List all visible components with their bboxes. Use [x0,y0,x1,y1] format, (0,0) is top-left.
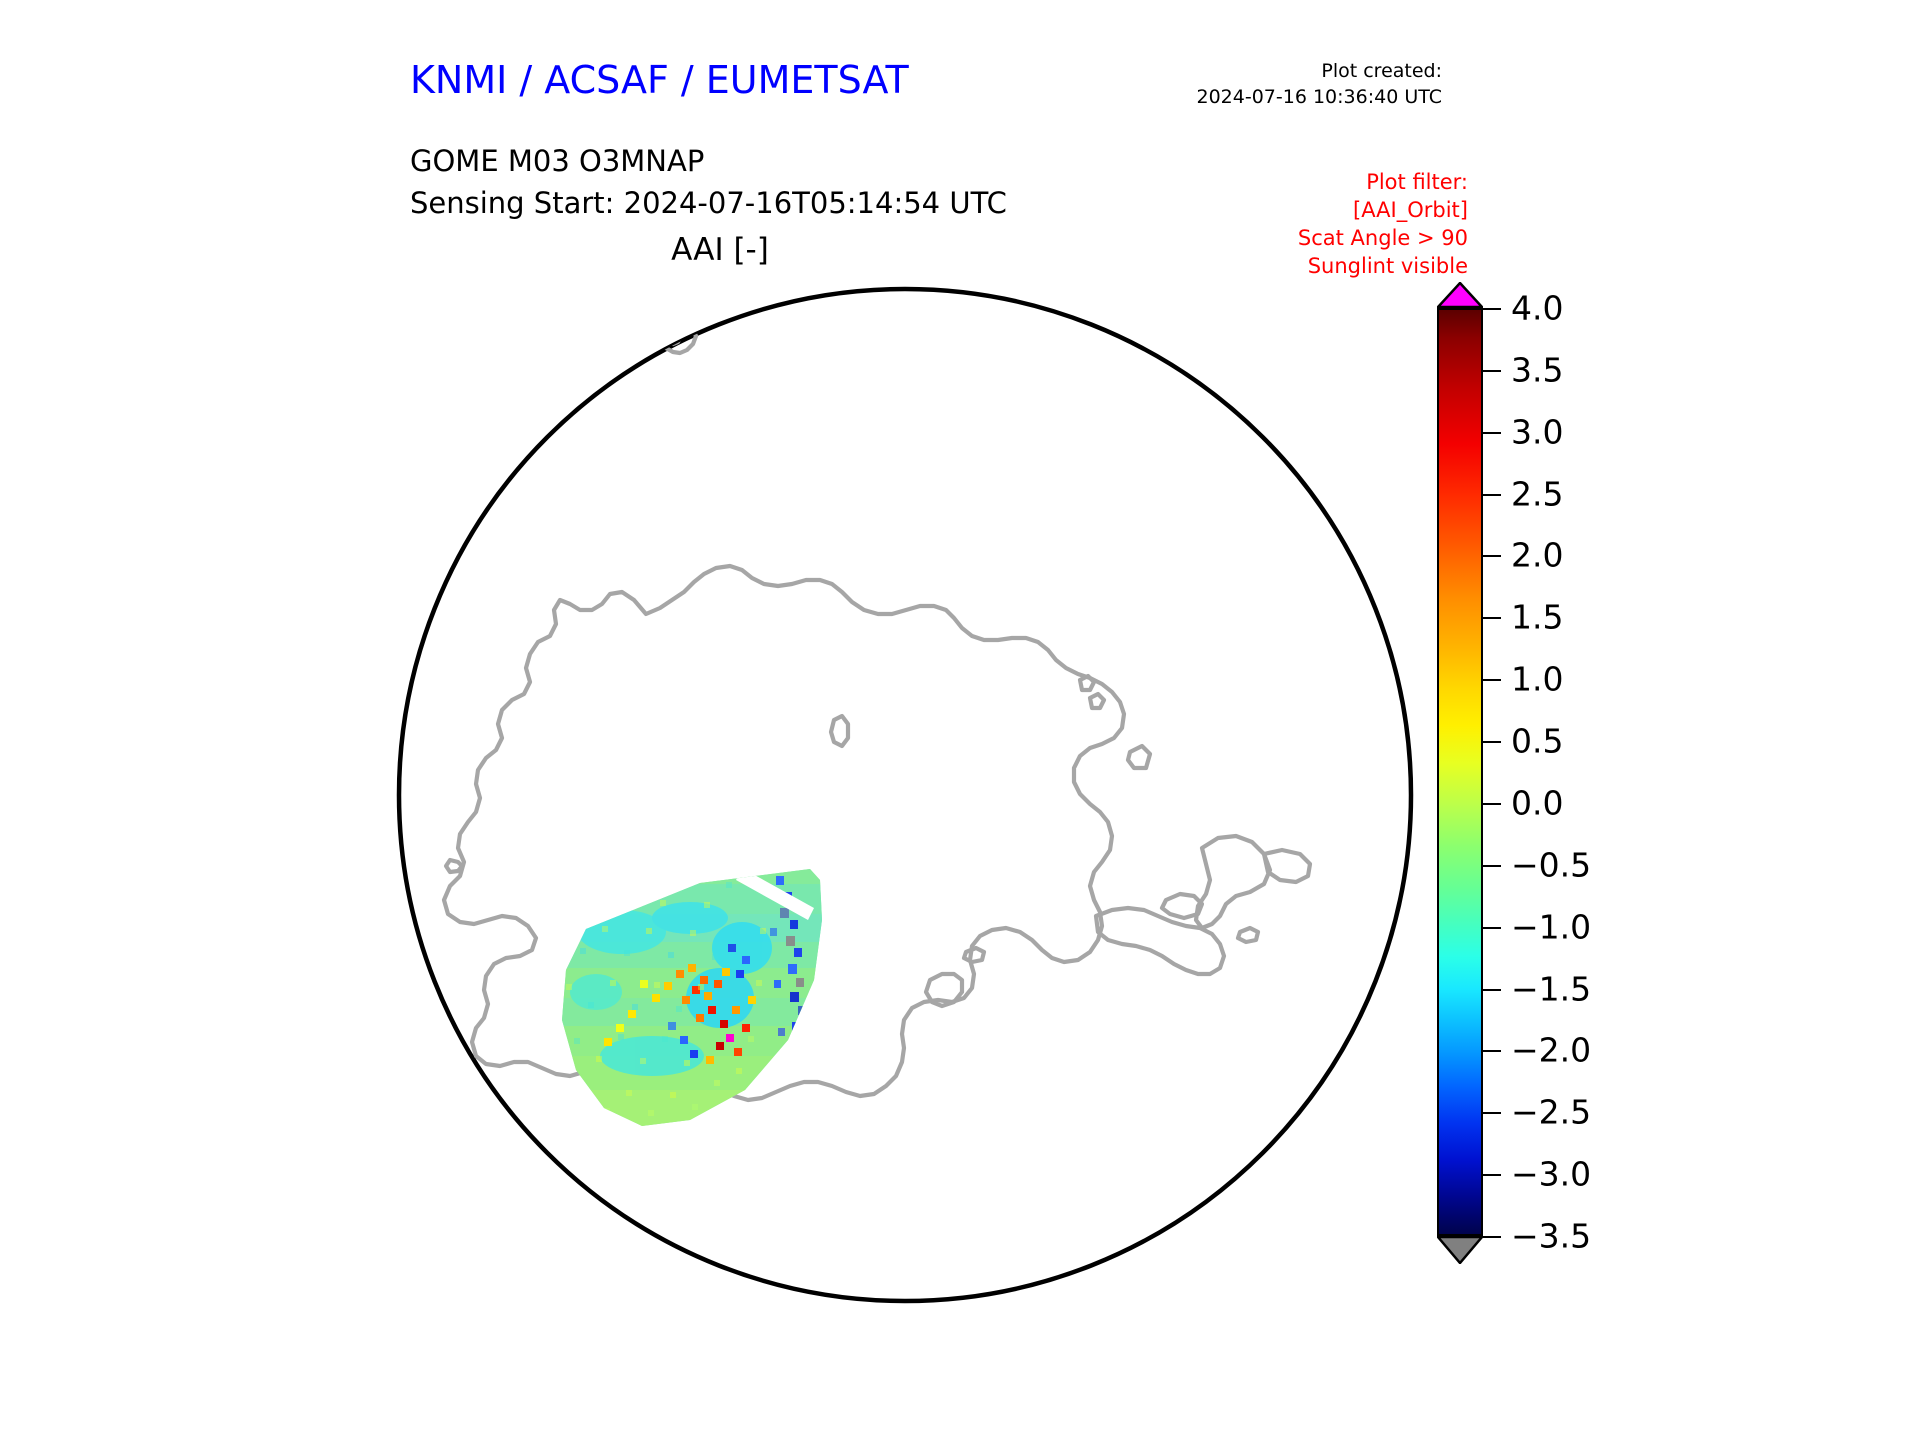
colorbar-tick-mark [1483,741,1501,743]
colorbar-tick-mark [1483,679,1501,681]
colorbar-tick-mark [1483,1112,1501,1114]
colorbar-tick-label: −2.5 [1511,1093,1591,1132]
colorbar-tick-mark [1483,927,1501,929]
colorbar-tick-mark [1483,308,1501,310]
plot-created-value: 2024-07-16 10:36:40 UTC [1197,84,1443,110]
coastline-tasmania [510,376,538,403]
plot-created-block: Plot created: 2024-07-16 10:36:40 UTC [1197,58,1443,110]
colorbar-over-arrow [1437,282,1483,308]
plot-filter-line-2: Sunglint visible [1298,252,1468,280]
colorbar-tick-mark [1483,1236,1501,1238]
coastline-small-island-left [416,370,436,386]
colorbar-tick-label: −2.0 [1511,1031,1591,1070]
colorbar-tick-label: 1.0 [1511,660,1563,699]
colorbar-tick-mark [1483,989,1501,991]
product-info-block: GOME M03 O3MNAP Sensing Start: 2024-07-1… [410,140,1007,224]
page-title: AAI [-] [0,232,1440,268]
plot-canvas: KNMI / ACSAF / EUMETSAT Plot created: 20… [0,0,1920,1440]
colorbar-tick-mark [1483,1050,1501,1052]
map-area [390,280,1420,1310]
colorbar-tick-label: 3.5 [1511,350,1563,389]
colorbar-tick-label: −3.0 [1511,1155,1591,1194]
colorbar-tick-label: 2.5 [1511,474,1563,513]
colorbar-tick-mark [1483,555,1501,557]
plot-filter-label: Plot filter: [1298,168,1468,196]
plot-filter-block: Plot filter: [AAI_Orbit] Scat Angle > 90… [1298,168,1468,280]
colorbar-tick-mark [1483,370,1501,372]
organisation-title: KNMI / ACSAF / EUMETSAT [410,58,909,102]
colorbar-under-arrow [1437,1236,1483,1264]
colorbar-tick-label: 0.0 [1511,783,1563,822]
coastline-new-zealand-north [676,280,702,305]
colorbar: 4.03.53.02.52.01.51.00.50.0−0.5−1.0−1.5−… [1437,282,1797,1302]
colorbar-tick-label: 0.5 [1511,722,1563,761]
product-name: GOME M03 O3MNAP [410,140,1007,182]
sensing-start: Sensing Start: 2024-07-16T05:14:54 UTC [410,182,1007,224]
plot-created-label: Plot created: [1197,58,1443,84]
colorbar-gradient [1437,308,1483,1236]
colorbar-tick-mark [1483,432,1501,434]
colorbar-tick-label: −1.5 [1511,969,1591,1008]
colorbar-tick-label: −3.5 [1511,1217,1591,1256]
plot-filter-line-1: Scat Angle > 90 [1298,224,1468,252]
plot-filter-line-0: [AAI_Orbit] [1298,196,1468,224]
colorbar-tick-label: −0.5 [1511,845,1591,884]
colorbar-tick-mark [1483,865,1501,867]
colorbar-tick-label: 3.0 [1511,412,1563,451]
colorbar-tick-mark [1483,494,1501,496]
colorbar-tick-label: −1.0 [1511,907,1591,946]
colorbar-tick-label: 2.0 [1511,536,1563,575]
colorbar-tick-label: 1.5 [1511,598,1563,637]
colorbar-tick-label: 4.0 [1511,289,1563,328]
colorbar-tick-mark [1483,803,1501,805]
colorbar-tick-mark [1483,1174,1501,1176]
limb-circle [399,289,1411,1301]
colorbar-tick-mark [1483,617,1501,619]
